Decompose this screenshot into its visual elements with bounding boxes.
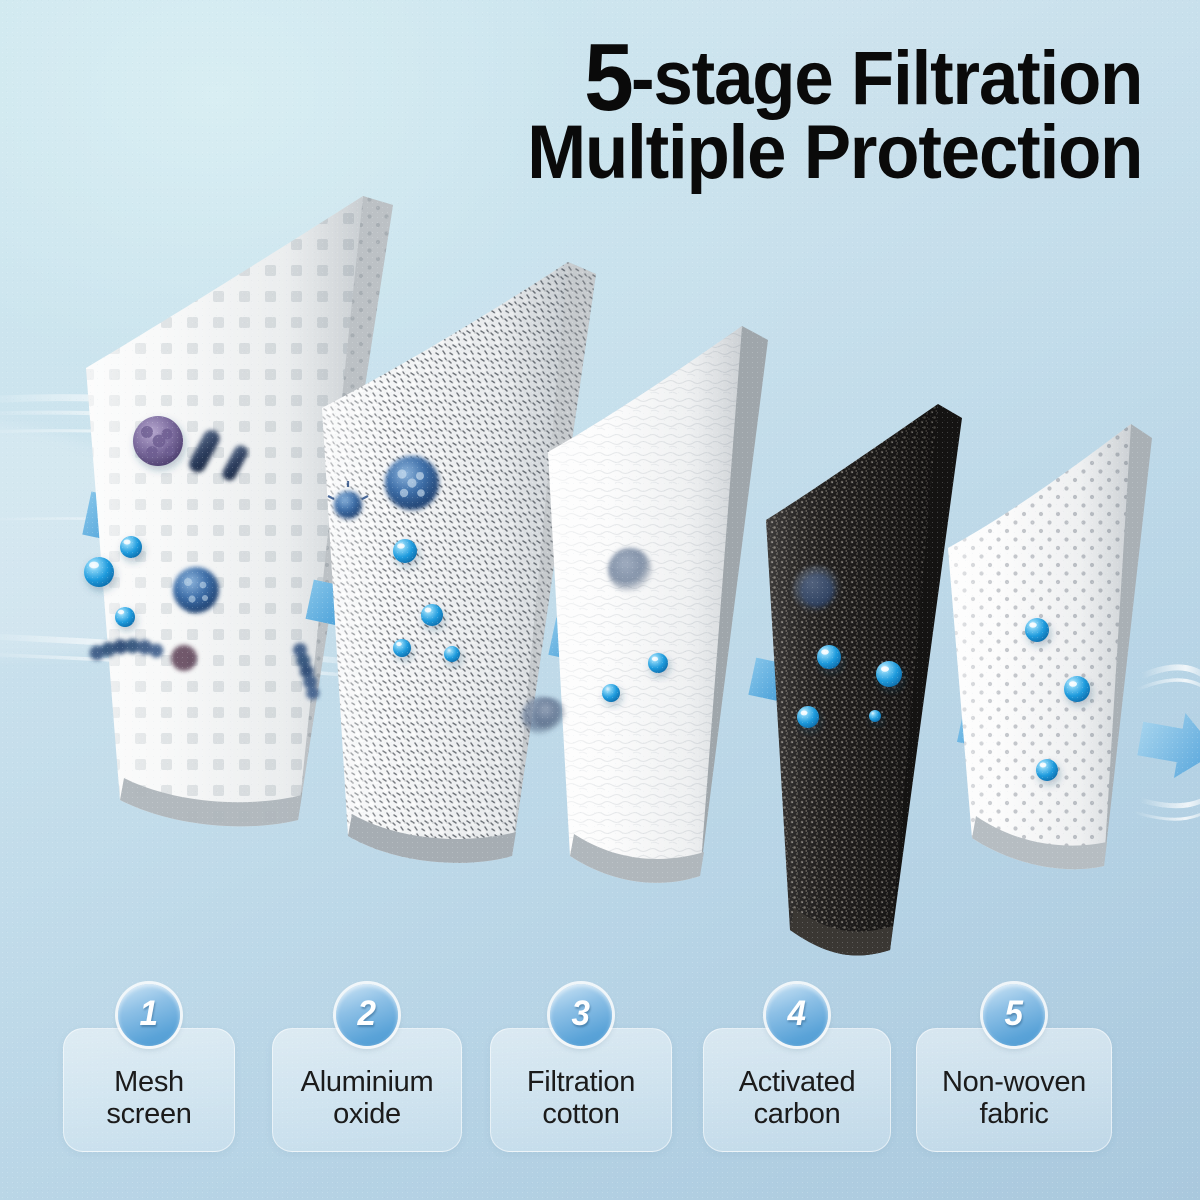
legend-card-1[interactable]: Mesh screen	[63, 1028, 235, 1152]
water-droplet	[648, 653, 668, 673]
flow-arrow-2	[301, 560, 419, 660]
legend-label-3: Filtration cotton	[527, 1066, 635, 1131]
legend-card-5[interactable]: Non-woven fabric	[916, 1028, 1112, 1152]
bacteria-rod	[186, 427, 250, 483]
badge-5: 5	[983, 984, 1045, 1046]
clean-air-stream	[1134, 667, 1200, 819]
legend-item-4[interactable]: 4 Activated carbon	[703, 984, 891, 1152]
badge-number-1: 1	[140, 994, 158, 1034]
flow-arrow-4	[745, 640, 852, 732]
legend-label-2: Aluminium oxide	[301, 1066, 434, 1131]
legend-card-4[interactable]: Activated carbon	[703, 1028, 891, 1152]
dust-mote	[522, 697, 560, 735]
flow-arrow-1	[78, 470, 206, 579]
legend-item-3[interactable]: 3 Filtration cotton	[490, 984, 672, 1152]
water-droplet	[797, 706, 819, 728]
badge-3: 3	[550, 984, 612, 1046]
legend-item-5[interactable]: 5 Non-woven fabric	[916, 984, 1112, 1152]
dust-mote	[171, 645, 197, 671]
water-droplet	[602, 684, 620, 702]
page-title: 5-stage Filtration Multiple Protection	[481, 40, 1142, 190]
particles-stage-1	[84, 416, 250, 671]
filtration-cotton-layer	[548, 326, 768, 883]
legend-card-3[interactable]: Filtration cotton	[490, 1028, 672, 1152]
particles-stage-5	[1025, 618, 1090, 781]
aluminium-oxide-layer	[322, 262, 596, 863]
water-droplet	[421, 604, 443, 626]
legend-label-4: Activated carbon	[739, 1066, 856, 1131]
water-droplet	[1064, 676, 1090, 702]
badge-1: 1	[118, 984, 180, 1046]
title-line-1: 5-stage Filtration	[527, 40, 1142, 117]
legend-label-5: Non-woven fabric	[942, 1066, 1086, 1131]
water-droplet	[1025, 618, 1049, 642]
title-line-2: Multiple Protection	[527, 117, 1142, 190]
legend-item-2[interactable]: 2 Aluminium oxide	[272, 984, 462, 1152]
dirty-air-haze	[0, 420, 300, 660]
dirty-air-stream	[0, 398, 402, 678]
particles-stage-3	[533, 548, 668, 730]
activated-carbon-layer	[766, 404, 962, 955]
badge-2: 2	[336, 984, 398, 1046]
flow-arrow-outlet	[1135, 706, 1200, 785]
legend-item-1[interactable]: 1 Mesh screen	[63, 984, 235, 1152]
badge-number-2: 2	[358, 994, 376, 1034]
water-droplet	[84, 557, 114, 587]
dust-mote	[793, 566, 841, 614]
water-droplet	[393, 539, 417, 563]
legend-card-2[interactable]: Aluminium oxide	[272, 1028, 462, 1152]
badge-number-5: 5	[1005, 994, 1023, 1034]
water-droplet	[817, 645, 841, 669]
badge-number-3: 3	[572, 994, 590, 1034]
virus-particle	[328, 481, 368, 519]
bacteria-rod	[88, 633, 164, 667]
water-droplet	[869, 710, 881, 722]
pollen-particle	[133, 416, 183, 466]
water-droplet	[444, 646, 460, 662]
dust-mote	[608, 548, 652, 592]
water-droplet	[393, 639, 411, 657]
flow-arrow-5	[953, 690, 1056, 777]
title-line-1-rest: -stage Filtration	[631, 36, 1142, 121]
bacteria-rod	[283, 641, 330, 702]
legend-label-1: Mesh screen	[106, 1066, 191, 1131]
mesh-screen-layer	[86, 196, 393, 826]
legend-bar: 1 Mesh screen 2 Aluminium oxide 3 Filtra…	[0, 982, 1200, 1152]
non-woven-fabric-layer	[948, 424, 1152, 869]
badge-4: 4	[766, 984, 828, 1046]
flow-arrow-3	[545, 600, 654, 692]
water-droplet	[876, 661, 902, 687]
virus-particle	[385, 456, 439, 510]
water-droplet	[1036, 759, 1058, 781]
badge-number-4: 4	[788, 994, 806, 1034]
particles-stage-4	[793, 566, 902, 728]
water-droplet	[115, 607, 135, 627]
water-droplet	[120, 536, 142, 558]
virus-particle	[173, 567, 219, 613]
particles-stage-2	[283, 456, 560, 735]
infographic-canvas: 5-stage Filtration Multiple Protection 1…	[0, 0, 1200, 1200]
dust-mote	[533, 698, 565, 730]
